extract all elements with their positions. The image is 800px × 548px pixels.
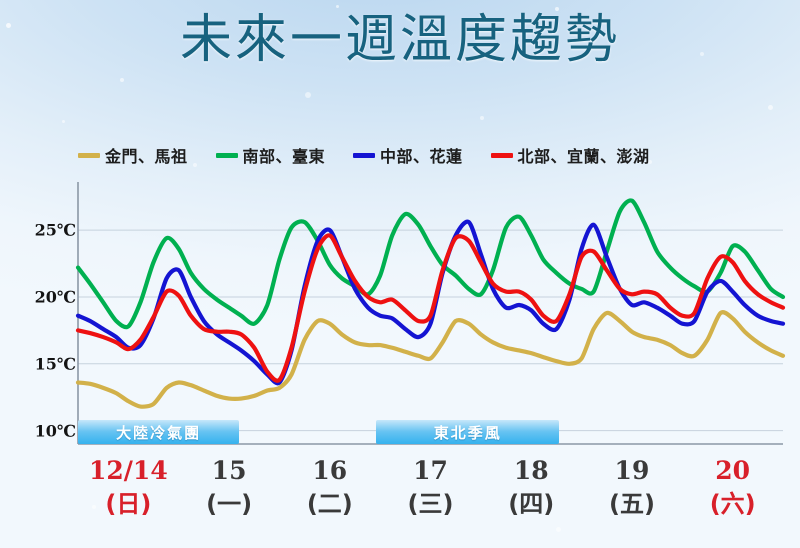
y-tick-label-10: 10℃ (14, 421, 76, 440)
x-tick-date: 17 (380, 455, 481, 487)
x-tick-weekday: (五) (582, 487, 683, 521)
weather-chart-page: 未來一週溫度趨勢 金門、馬祖南部、臺東中部、花蓮北部、宜蘭、澎湖 25℃20℃1… (0, 0, 800, 548)
x-tick-date: 16 (279, 455, 380, 487)
chart-svg (78, 182, 783, 444)
snow-fleck (768, 105, 773, 110)
chart-legend: 金門、馬祖南部、臺東中部、花蓮北部、宜蘭、澎湖 (78, 143, 650, 167)
snow-fleck (62, 120, 65, 123)
x-axis-date-labels: 12/14(日)15(一)16(二)17(三)18(四)19(五)20(六) (78, 455, 783, 535)
x-tick-17: 17(三) (380, 455, 481, 535)
x-tick-date: 20 (682, 455, 783, 487)
banner-label: 大陸冷氣團 (116, 422, 201, 443)
x-tick-19: 19(五) (582, 455, 683, 535)
legend-item-kinmen[interactable]: 金門、馬祖 (78, 143, 188, 167)
y-tick-label-20: 20℃ (14, 287, 76, 306)
x-tick-date: 15 (179, 455, 280, 487)
x-tick-15: 15(一) (179, 455, 280, 535)
y-tick-label-25: 25℃ (14, 221, 76, 240)
legend-label-south: 南部、臺東 (243, 143, 326, 167)
legend-swatch-north (491, 153, 513, 158)
x-tick-date: 18 (481, 455, 582, 487)
legend-swatch-kinmen (78, 153, 100, 158)
legend-item-central[interactable]: 中部、花蓮 (353, 143, 463, 167)
x-tick-weekday: (六) (682, 487, 783, 521)
x-tick-weekday: (四) (481, 487, 582, 521)
y-tick-label-15: 15℃ (14, 354, 76, 373)
weather-system-banner-1: 東北季風 (376, 420, 559, 444)
banner-label: 東北季風 (434, 422, 502, 443)
x-tick-16: 16(二) (279, 455, 380, 535)
x-tick-date: 12/14 (78, 455, 179, 487)
legend-swatch-south (216, 153, 238, 158)
snow-fleck (480, 116, 484, 120)
x-tick-weekday: (三) (380, 487, 481, 521)
x-tick-date: 19 (582, 455, 683, 487)
legend-label-central: 中部、花蓮 (380, 143, 463, 167)
x-tick-18: 18(四) (481, 455, 582, 535)
x-tick-weekday: (一) (179, 487, 280, 521)
legend-label-kinmen: 金門、馬祖 (105, 143, 188, 167)
x-tick-12-14: 12/14(日) (78, 455, 179, 535)
legend-swatch-central (353, 153, 375, 158)
legend-item-south[interactable]: 南部、臺東 (216, 143, 326, 167)
snow-fleck (120, 78, 124, 82)
series-line-南部、臺東 (78, 200, 783, 327)
x-tick-weekday: (日) (78, 487, 179, 521)
chart-plot-area (78, 182, 783, 444)
legend-label-north: 北部、宜蘭、澎湖 (518, 143, 650, 167)
snow-fleck (305, 92, 311, 98)
weather-system-banner-0: 大陸冷氣團 (78, 420, 239, 444)
legend-item-north[interactable]: 北部、宜蘭、澎湖 (491, 143, 650, 167)
page-title: 未來一週溫度趨勢 (0, 8, 800, 72)
x-tick-weekday: (二) (279, 487, 380, 521)
x-tick-20: 20(六) (682, 455, 783, 535)
